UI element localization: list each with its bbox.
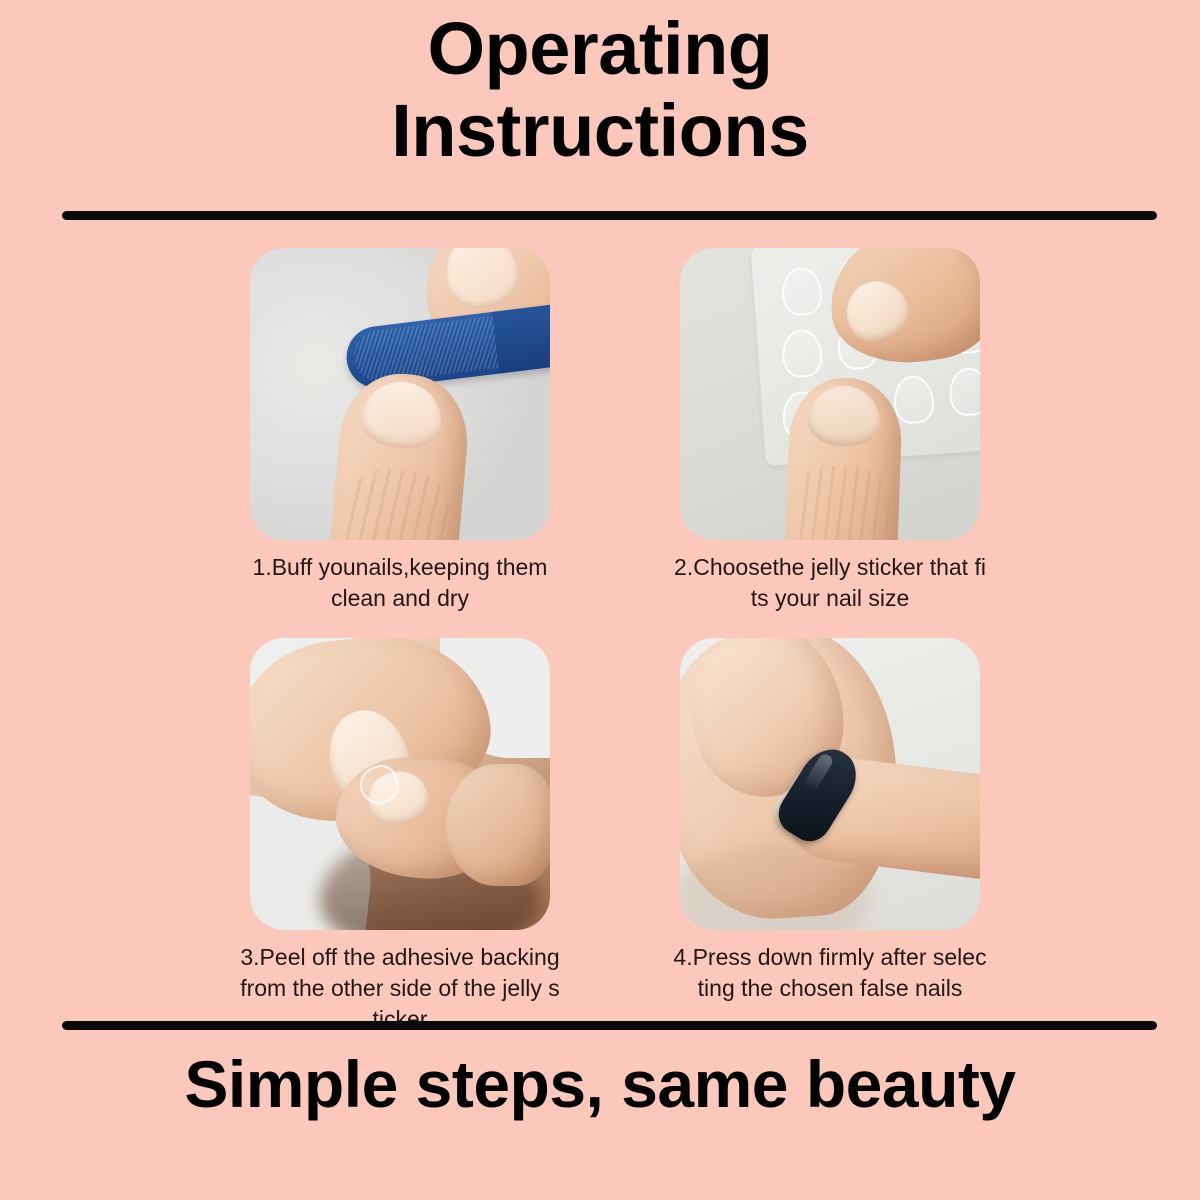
- right-finger-shape: [446, 764, 550, 886]
- buffing-nail-with-file-photo: [250, 248, 550, 540]
- caption-3-line-3: ticker: [240, 1004, 560, 1035]
- title-line-2: Instructions: [0, 90, 1200, 172]
- sticker-tab: [892, 374, 935, 425]
- instruction-infographic: Operating Instructions 1.Buff younails,k…: [0, 0, 1200, 1200]
- step-1-caption: 1.Buff younails,keeping them clean and d…: [240, 552, 560, 614]
- choosing-jelly-sticker-photo: [680, 248, 980, 540]
- caption-3-line-1: 3.Peel off the adhesive backing: [240, 942, 560, 973]
- step-4-caption: 4.Press down firmly after selec ting the…: [670, 942, 990, 1004]
- peeling-adhesive-backing-photo: [250, 638, 550, 930]
- page-title: Operating Instructions: [0, 8, 1200, 172]
- bottom-divider: [62, 1021, 1157, 1030]
- sticker-tab: [948, 366, 980, 417]
- top-divider: [62, 211, 1157, 220]
- step-card-2: 2.Choosethe jelly sticker that fi ts you…: [680, 248, 980, 614]
- sticker-tab: [780, 266, 823, 317]
- sticker-tab: [781, 328, 824, 379]
- footer-tagline: Simple steps, same beauty: [0, 1046, 1200, 1122]
- lower-finger-shape: [327, 369, 473, 540]
- caption-4-line-2: ting the chosen false nails: [670, 973, 990, 1004]
- step-card-3: 3.Peel off the adhesive backing from the…: [250, 638, 550, 1035]
- step-2-caption: 2.Choosethe jelly sticker that fi ts you…: [670, 552, 990, 614]
- step-card-4: 4.Press down firmly after selec ting the…: [680, 638, 980, 1004]
- step-card-1: 1.Buff younails,keeping them clean and d…: [250, 248, 550, 614]
- pressing-false-nail-photo: [680, 638, 980, 930]
- title-line-1: Operating: [0, 8, 1200, 90]
- caption-3-line-2: from the other side of the jelly s: [240, 973, 560, 1004]
- caption-2-line-1: 2.Choosethe jelly sticker that fi: [670, 552, 990, 583]
- caption-2-line-2: ts your nail size: [670, 583, 990, 614]
- index-finger-shape: [785, 376, 904, 540]
- caption-1-line-1: 1.Buff younails,keeping them: [240, 552, 560, 583]
- caption-4-line-1: 4.Press down firmly after selec: [670, 942, 990, 973]
- caption-1-line-2: clean and dry: [240, 583, 560, 614]
